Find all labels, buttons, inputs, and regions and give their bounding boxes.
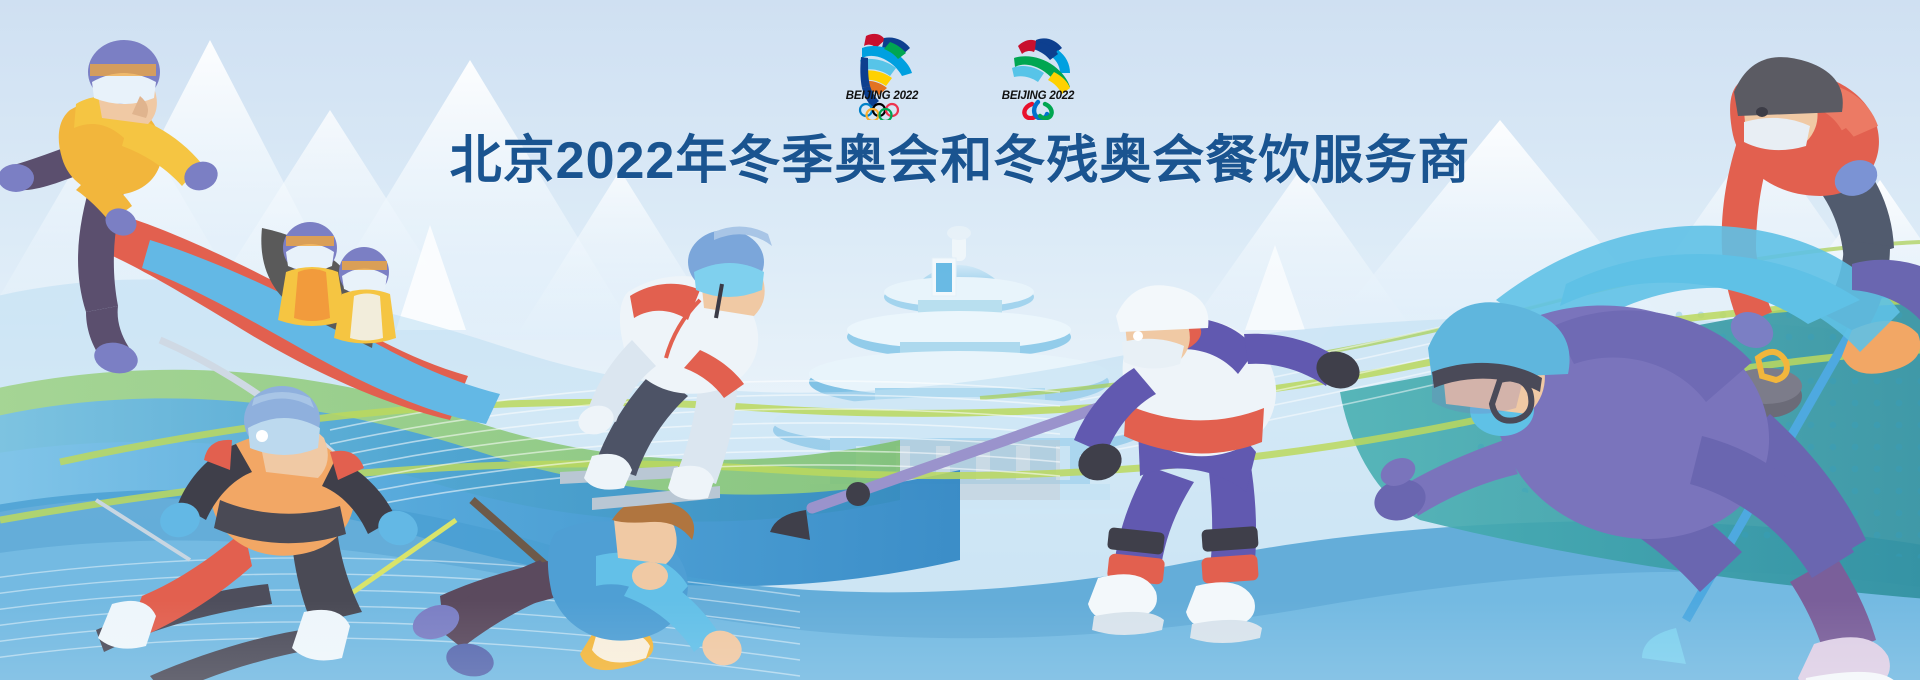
emblem-row: BEIJING 2022: [0, 24, 1920, 120]
olympic-emblem[interactable]: BEIJING 2022: [832, 24, 932, 120]
paralympic-ribbon-symbol: [1012, 38, 1070, 94]
title-container: 北京2022年冬季奥会和冬残奥会餐饮服务商: [0, 118, 1920, 193]
agitos-icon: [1024, 102, 1051, 118]
page-title: 北京2022年冬季奥会和冬残奥会餐饮服务商: [450, 118, 1471, 193]
paralympic-emblem[interactable]: BEIJING 2022: [988, 24, 1088, 120]
bobsled-athlete-3: [334, 247, 396, 344]
olympics-banner: BEIJING 2022: [0, 0, 1920, 680]
olympic-wordmark: BEIJING 2022: [846, 90, 919, 102]
